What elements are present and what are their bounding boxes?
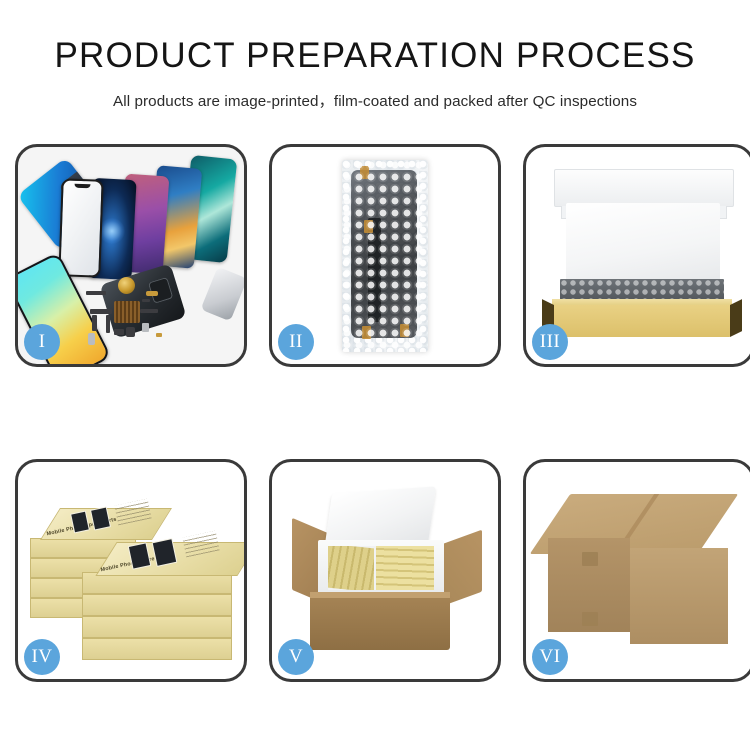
process-step-grid: I Assorted mobile phone screens and spar… bbox=[15, 144, 735, 682]
process-step-card-1[interactable]: I Assorted mobile phone screens and spar… bbox=[15, 144, 247, 367]
page-header: PRODUCT PREPARATION PROCESS All products… bbox=[0, 0, 750, 111]
white-foam-sheet bbox=[566, 203, 720, 281]
kraft-box-lid bbox=[554, 169, 734, 207]
gold-coil-component bbox=[118, 277, 135, 294]
carton-right-panel bbox=[630, 548, 728, 644]
metal-bracket-component bbox=[88, 333, 95, 345]
step-badge-5: V bbox=[278, 639, 314, 675]
process-step-card-3[interactable]: III Open yellow kraft box lined with whi… bbox=[523, 144, 750, 367]
tempered-glass-screen-protector bbox=[58, 178, 103, 277]
flex-cable-component bbox=[86, 291, 106, 295]
kraft-box-stack: Mobile Phone Spare Parts Mobile Phone Sp… bbox=[26, 480, 242, 670]
carton-front-panel bbox=[310, 592, 450, 650]
packed-boxes-left-group bbox=[328, 546, 374, 590]
lcd-screen bbox=[351, 170, 417, 338]
step-badge-3: III bbox=[532, 324, 568, 360]
packed-yellow-boxes bbox=[328, 546, 434, 590]
page-subtitle: All products are image-printed，film-coat… bbox=[0, 89, 750, 111]
process-step-card-2[interactable]: II LCD screen assembly sealed in a bubbl… bbox=[269, 144, 501, 367]
amber-tape-tab bbox=[364, 220, 373, 233]
spare-parts-cluster bbox=[84, 275, 244, 361]
amber-tape-tab bbox=[400, 324, 409, 337]
step-badge-4: IV bbox=[24, 639, 60, 675]
small-connector-component bbox=[142, 299, 150, 302]
tape-tab-upper bbox=[582, 552, 598, 566]
flex-cable-component bbox=[106, 315, 110, 333]
step-badge-2: II bbox=[278, 324, 314, 360]
chip-grid-component bbox=[114, 301, 140, 323]
speaker-component bbox=[126, 327, 135, 337]
bubble-wrap-bag bbox=[342, 160, 428, 352]
flex-cable-strip bbox=[368, 218, 381, 322]
packed-boxes-right-group bbox=[376, 546, 434, 590]
camera-module-component bbox=[114, 329, 124, 335]
process-step-card-5[interactable]: V Outer carton with white foam insert ho… bbox=[269, 459, 501, 682]
gold-connector-component bbox=[146, 291, 158, 296]
kraft-box-side bbox=[82, 616, 232, 638]
flex-cable-component bbox=[92, 315, 97, 331]
kraft-box-side bbox=[82, 638, 232, 660]
screw-component bbox=[156, 333, 162, 337]
tape-tab-lower bbox=[582, 612, 598, 626]
amber-tape-tab bbox=[360, 166, 369, 179]
flex-cable-component bbox=[90, 309, 112, 314]
page-title: PRODUCT PREPARATION PROCESS bbox=[0, 38, 750, 75]
kraft-box-front-panel bbox=[552, 305, 732, 337]
kraft-box-side bbox=[82, 594, 232, 616]
process-step-card-6[interactable]: VI Sealed brown shipping carton ready fo… bbox=[523, 459, 750, 682]
process-step-card-4[interactable]: Mobile Phone Spare Parts Mobile Phone Sp… bbox=[15, 459, 247, 682]
step-badge-1: I bbox=[24, 324, 60, 360]
step-badge-6: VI bbox=[532, 639, 568, 675]
metal-shield-component bbox=[142, 323, 149, 332]
amber-tape-tab bbox=[362, 326, 371, 339]
flex-cable-component bbox=[140, 309, 158, 313]
